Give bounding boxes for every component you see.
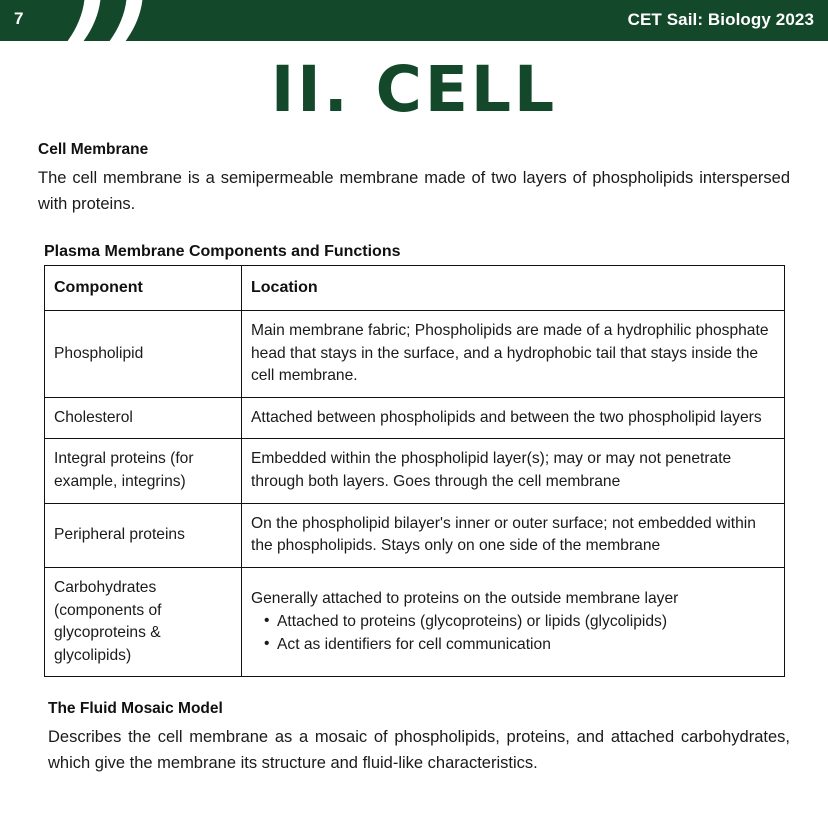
list-item: Attached to proteins (glycoproteins) or …: [277, 611, 774, 634]
table-caption: Plasma Membrane Components and Functions: [44, 243, 790, 261]
cell-location-text: Generally attached to proteins on the ou…: [251, 590, 678, 607]
table-row: Integral proteins (for example, integrin…: [45, 439, 785, 503]
page-content: Cell Membrane The cell membrane is a sem…: [38, 140, 790, 776]
header-course-title: CET Sail: Biology 2023: [628, 10, 814, 30]
cell-bullet-list: Attached to proteins (glycoproteins) or …: [251, 611, 774, 656]
fluid-mosaic-section: The Fluid Mosaic Model Describes the cel…: [48, 699, 790, 776]
cell-component: Phospholipid: [45, 311, 242, 398]
table-row: Carbohydrates (components of glycoprotei…: [45, 567, 785, 676]
section-heading-fluid-mosaic: The Fluid Mosaic Model: [48, 699, 790, 720]
page-header-bar: 7 CET Sail: Biology 2023: [0, 0, 828, 41]
table-header-component: Component: [45, 266, 242, 311]
cell-component: Cholesterol: [45, 397, 242, 439]
cell-location: Main membrane fabric; Phospholipids are …: [242, 311, 785, 398]
section-paragraph-fluid-mosaic: Describes the cell membrane as a mosaic …: [48, 724, 790, 776]
section-heading-cell-membrane: Cell Membrane: [38, 140, 790, 161]
table-header-row: Component Location: [45, 266, 785, 311]
page-number: 7: [14, 9, 24, 29]
cell-location: On the phospholipid bilayer's inner or o…: [242, 503, 785, 567]
double-swoosh-stripe-icon: [55, 0, 175, 41]
table-header-location: Location: [242, 266, 785, 311]
section-paragraph-cell-membrane: The cell membrane is a semipermeable mem…: [38, 165, 790, 217]
cell-location: Embedded within the phospholipid layer(s…: [242, 439, 785, 503]
cell-location: Attached between phospholipids and betwe…: [242, 397, 785, 439]
list-item: Act as identifiers for cell communicatio…: [277, 634, 774, 657]
cell-component: Carbohydrates (components of glycoprotei…: [45, 567, 242, 676]
table-row: Phospholipid Main membrane fabric; Phosp…: [45, 311, 785, 398]
plasma-membrane-table: Component Location Phospholipid Main mem…: [44, 265, 785, 677]
table-row: Peripheral proteins On the phospholipid …: [45, 503, 785, 567]
page-title: II. CELL: [0, 58, 828, 121]
cell-component: Integral proteins (for example, integrin…: [45, 439, 242, 503]
cell-location: Generally attached to proteins on the ou…: [242, 567, 785, 676]
table-row: Cholesterol Attached between phospholipi…: [45, 397, 785, 439]
cell-component: Peripheral proteins: [45, 503, 242, 567]
